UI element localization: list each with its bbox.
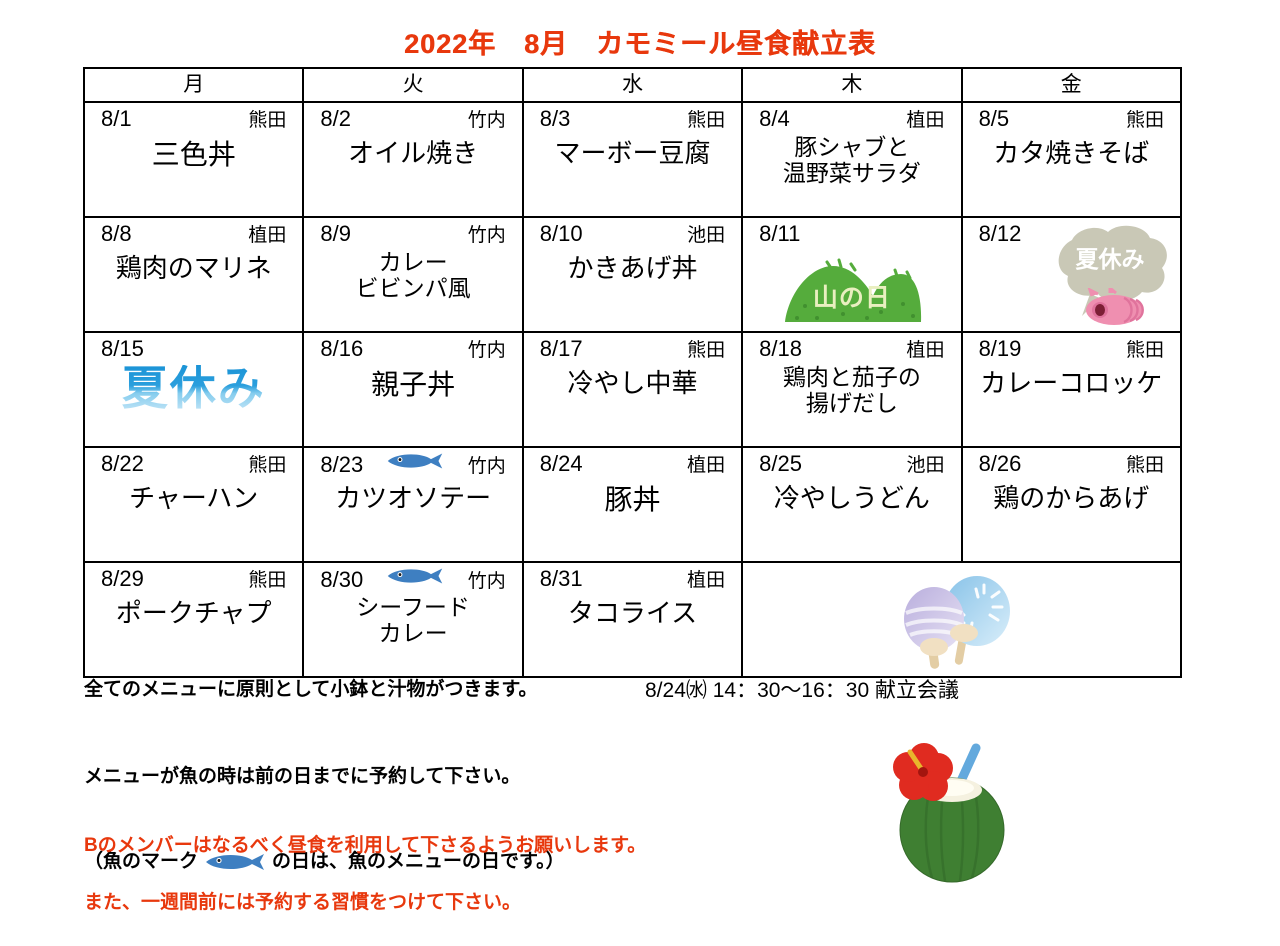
cell-staff: 竹内 <box>468 222 506 250</box>
cell-menu: オイル焼き <box>304 139 521 168</box>
cell-staff: 熊田 <box>248 452 286 480</box>
cell-menu: ポークチャプ <box>85 599 302 628</box>
cell-staff: 熊田 <box>1126 107 1164 135</box>
calendar-table: 月 火 水 木 金 8/1熊田三色丼8/2竹内オイル焼き8/3熊田マーボー豆腐8… <box>83 67 1182 678</box>
cell-menu: 鶏肉のマリネ <box>85 254 302 283</box>
cell-header: 8/15 <box>85 333 302 363</box>
cell-header: 8/1熊田 <box>85 103 302 133</box>
cell-staff: 熊田 <box>248 567 286 595</box>
coconut-drink-icon <box>880 730 1030 890</box>
cell-date: 8/22 <box>101 450 144 478</box>
cell-header: 8/4植田 <box>743 103 960 133</box>
note-meeting: 8/24㈬ 14：30〜16：30 献立会議 <box>645 675 959 707</box>
calendar-cell-8-12[interactable]: 8/12夏休み <box>962 217 1181 332</box>
cloud-label: 夏休み <box>1046 240 1174 274</box>
cell-staff: 植田 <box>907 107 945 135</box>
calendar-cell-8-22[interactable]: 8/22熊田チャーハン <box>84 447 303 562</box>
calendar-cell-8-10[interactable]: 8/10池田かきあげ丼 <box>523 217 742 332</box>
summer-break-label: 夏休み <box>85 365 302 411</box>
cell-date: 8/1 <box>101 105 132 133</box>
cell-menu: カタ焼きそば <box>963 139 1180 168</box>
mountain-label: 山の日 <box>777 278 927 314</box>
cell-menu: カレーコロッケ <box>963 369 1180 398</box>
note-request-line2: また、一週間前には予約する習慣をつけて下さい。 <box>84 889 646 918</box>
cell-header: 8/17熊田 <box>524 333 741 363</box>
cell-menu: カツオソテー <box>304 484 521 513</box>
cell-staff: 竹内 <box>468 337 506 365</box>
calendar-cell-8-25[interactable]: 8/25池田冷やしうどん <box>742 447 961 562</box>
cell-date: 8/12 <box>979 220 1022 248</box>
cell-menu: かきあげ丼 <box>524 254 741 283</box>
calendar-header-row: 月 火 水 木 金 <box>84 68 1181 102</box>
cell-menu: マーボー豆腐 <box>524 139 741 168</box>
cell-date: 8/24 <box>540 450 583 478</box>
weekday-header-tue: 火 <box>303 68 522 102</box>
calendar-cell-8-24[interactable]: 8/24植田豚丼 <box>523 447 742 562</box>
cell-date: 8/19 <box>979 335 1022 363</box>
cell-menu: 鶏のからあげ <box>963 484 1180 513</box>
cell-menu: 豚シャブと 温野菜サラダ <box>743 135 960 187</box>
calendar-week-row: 8/1熊田三色丼8/2竹内オイル焼き8/3熊田マーボー豆腐8/4植田豚シャブと … <box>84 102 1181 217</box>
cell-staff: 池田 <box>907 452 945 480</box>
cell-date: 8/31 <box>540 565 583 593</box>
cell-header: 8/25池田 <box>743 448 960 478</box>
calendar-cell-8-23[interactable]: 8/23竹内カツオソテー <box>303 447 522 562</box>
cell-header: 8/3熊田 <box>524 103 741 133</box>
note-side-dish: 全てのメニューに原則として小鉢と汁物がつきます。 <box>84 676 538 705</box>
calendar-cell-8-29[interactable]: 8/29熊田ポークチャプ <box>84 562 303 677</box>
cell-date: 8/10 <box>540 220 583 248</box>
cell-header: 8/2竹内 <box>304 103 521 133</box>
fish-icon <box>384 450 446 472</box>
cell-date: 8/16 <box>320 335 363 363</box>
cell-staff: 熊田 <box>1126 337 1164 365</box>
mountain-icon: 山の日 <box>777 248 927 326</box>
calendar-week-row: 8/8植田鶏肉のマリネ8/9竹内カレー ビビンパ風8/10池田かきあげ丼8/11… <box>84 217 1181 332</box>
cell-header: 8/26熊田 <box>963 448 1180 478</box>
cell-menu: 冷やし中華 <box>524 369 741 398</box>
cell-header: 8/8植田 <box>85 218 302 248</box>
calendar-cell-8-16[interactable]: 8/16竹内親子丼 <box>303 332 522 447</box>
cell-date: 8/5 <box>979 105 1010 133</box>
note-request: Bのメンバーはなるべく昼食を利用して下さるようお願いします。 また、一週間前には… <box>84 803 646 946</box>
cell-menu: 豚丼 <box>524 484 741 515</box>
calendar-cell-8-5[interactable]: 8/5熊田カタ焼きそば <box>962 102 1181 217</box>
weekday-header-mon: 月 <box>84 68 303 102</box>
cell-menu: 鶏肉と茄子の 揚げだし <box>743 365 960 417</box>
cell-staff: 熊田 <box>687 107 725 135</box>
pig-mosquito-coil-icon <box>1080 288 1150 328</box>
note-request-line1: Bのメンバーはなるべく昼食を利用して下さるようお願いします。 <box>84 832 646 861</box>
calendar-cell-8-9[interactable]: 8/9竹内カレー ビビンパ風 <box>303 217 522 332</box>
cell-staff: 熊田 <box>248 107 286 135</box>
calendar-body: 8/1熊田三色丼8/2竹内オイル焼き8/3熊田マーボー豆腐8/4植田豚シャブと … <box>84 102 1181 677</box>
cell-date: 8/23 <box>320 451 363 479</box>
calendar-cell-8-31[interactable]: 8/31植田タコライス <box>523 562 742 677</box>
calendar-week-row: 8/22熊田チャーハン8/23竹内カツオソテー8/24植田豚丼8/25池田冷やし… <box>84 447 1181 562</box>
cell-staff: 植田 <box>248 222 286 250</box>
calendar-cell-decoration[interactable] <box>742 562 1181 677</box>
weekday-header-wed: 水 <box>523 68 742 102</box>
cell-menu: チャーハン <box>85 484 302 513</box>
cell-header: 8/11 <box>743 218 960 248</box>
uchiwa-fans-icon <box>872 571 1052 671</box>
calendar-cell-8-1[interactable]: 8/1熊田三色丼 <box>84 102 303 217</box>
cell-header: 8/5熊田 <box>963 103 1180 133</box>
cell-menu: カレー ビビンパ風 <box>304 250 521 302</box>
cloud-icon: 夏休み <box>1046 224 1174 328</box>
calendar-cell-8-17[interactable]: 8/17熊田冷やし中華 <box>523 332 742 447</box>
cell-header: 8/18植田 <box>743 333 960 363</box>
calendar-cell-8-18[interactable]: 8/18植田鶏肉と茄子の 揚げだし <box>742 332 961 447</box>
menu-calendar: 月 火 水 木 金 8/1熊田三色丼8/2竹内オイル焼き8/3熊田マーボー豆腐8… <box>83 67 1180 678</box>
note-fish-reservation-line1: メニューが魚の時は前の日までに予約して下さい。 <box>84 763 565 792</box>
cell-date: 8/25 <box>759 450 802 478</box>
cell-menu: 三色丼 <box>85 139 302 170</box>
cell-staff: 竹内 <box>468 453 506 481</box>
calendar-cell-8-3[interactable]: 8/3熊田マーボー豆腐 <box>523 102 742 217</box>
calendar-cell-8-26[interactable]: 8/26熊田鶏のからあげ <box>962 447 1181 562</box>
cell-header: 8/23竹内 <box>304 448 521 478</box>
cell-header: 8/30竹内 <box>304 563 521 593</box>
calendar-week-row: 8/29熊田ポークチャプ8/30竹内シーフード カレー8/31植田タコライス <box>84 562 1181 677</box>
calendar-cell-8-30[interactable]: 8/30竹内シーフード カレー <box>303 562 522 677</box>
calendar-cell-8-19[interactable]: 8/19熊田カレーコロッケ <box>962 332 1181 447</box>
cell-menu: 冷やしうどん <box>743 484 960 513</box>
cell-staff: 熊田 <box>687 337 725 365</box>
cell-menu: シーフード カレー <box>304 595 521 647</box>
cell-staff: 池田 <box>687 222 725 250</box>
cell-staff: 植田 <box>907 337 945 365</box>
calendar-cell-8-8[interactable]: 8/8植田鶏肉のマリネ <box>84 217 303 332</box>
cell-date: 8/26 <box>979 450 1022 478</box>
cell-date: 8/15 <box>101 335 144 363</box>
cell-header: 8/31植田 <box>524 563 741 593</box>
cell-date: 8/2 <box>320 105 351 133</box>
cell-staff: 竹内 <box>468 568 506 596</box>
cell-date: 8/30 <box>320 566 363 594</box>
cell-date: 8/17 <box>540 335 583 363</box>
cell-date: 8/18 <box>759 335 802 363</box>
cell-header: 8/9竹内 <box>304 218 521 248</box>
cell-staff: 熊田 <box>1126 452 1164 480</box>
calendar-cell-8-11[interactable]: 8/11山の日 <box>742 217 961 332</box>
cell-header: 8/22熊田 <box>85 448 302 478</box>
cell-header: 8/19熊田 <box>963 333 1180 363</box>
cell-menu: 親子丼 <box>304 369 521 400</box>
cell-header: 8/16竹内 <box>304 333 521 363</box>
weekday-header-thu: 木 <box>742 68 961 102</box>
calendar-cell-8-2[interactable]: 8/2竹内オイル焼き <box>303 102 522 217</box>
calendar-cell-8-15[interactable]: 8/15夏休み <box>84 332 303 447</box>
cell-date: 8/9 <box>320 220 351 248</box>
cell-date: 8/11 <box>759 220 800 248</box>
fish-icon <box>384 565 446 587</box>
cell-header: 8/29熊田 <box>85 563 302 593</box>
cell-staff: 植田 <box>687 452 725 480</box>
weekday-header-fri: 金 <box>962 68 1181 102</box>
cell-date: 8/8 <box>101 220 132 248</box>
cell-date: 8/4 <box>759 105 790 133</box>
calendar-week-row: 8/15夏休み8/16竹内親子丼8/17熊田冷やし中華8/18植田鶏肉と茄子の … <box>84 332 1181 447</box>
cell-staff: 竹内 <box>468 107 506 135</box>
cell-header: 8/24植田 <box>524 448 741 478</box>
cell-date: 8/29 <box>101 565 144 593</box>
cell-staff: 植田 <box>687 567 725 595</box>
calendar-cell-8-4[interactable]: 8/4植田豚シャブと 温野菜サラダ <box>742 102 961 217</box>
cell-menu: タコライス <box>524 599 741 628</box>
cell-header: 8/10池田 <box>524 218 741 248</box>
cell-date: 8/3 <box>540 105 571 133</box>
page-title: 2022年 8月 カモミール昼食献立表 <box>0 0 1280 36</box>
